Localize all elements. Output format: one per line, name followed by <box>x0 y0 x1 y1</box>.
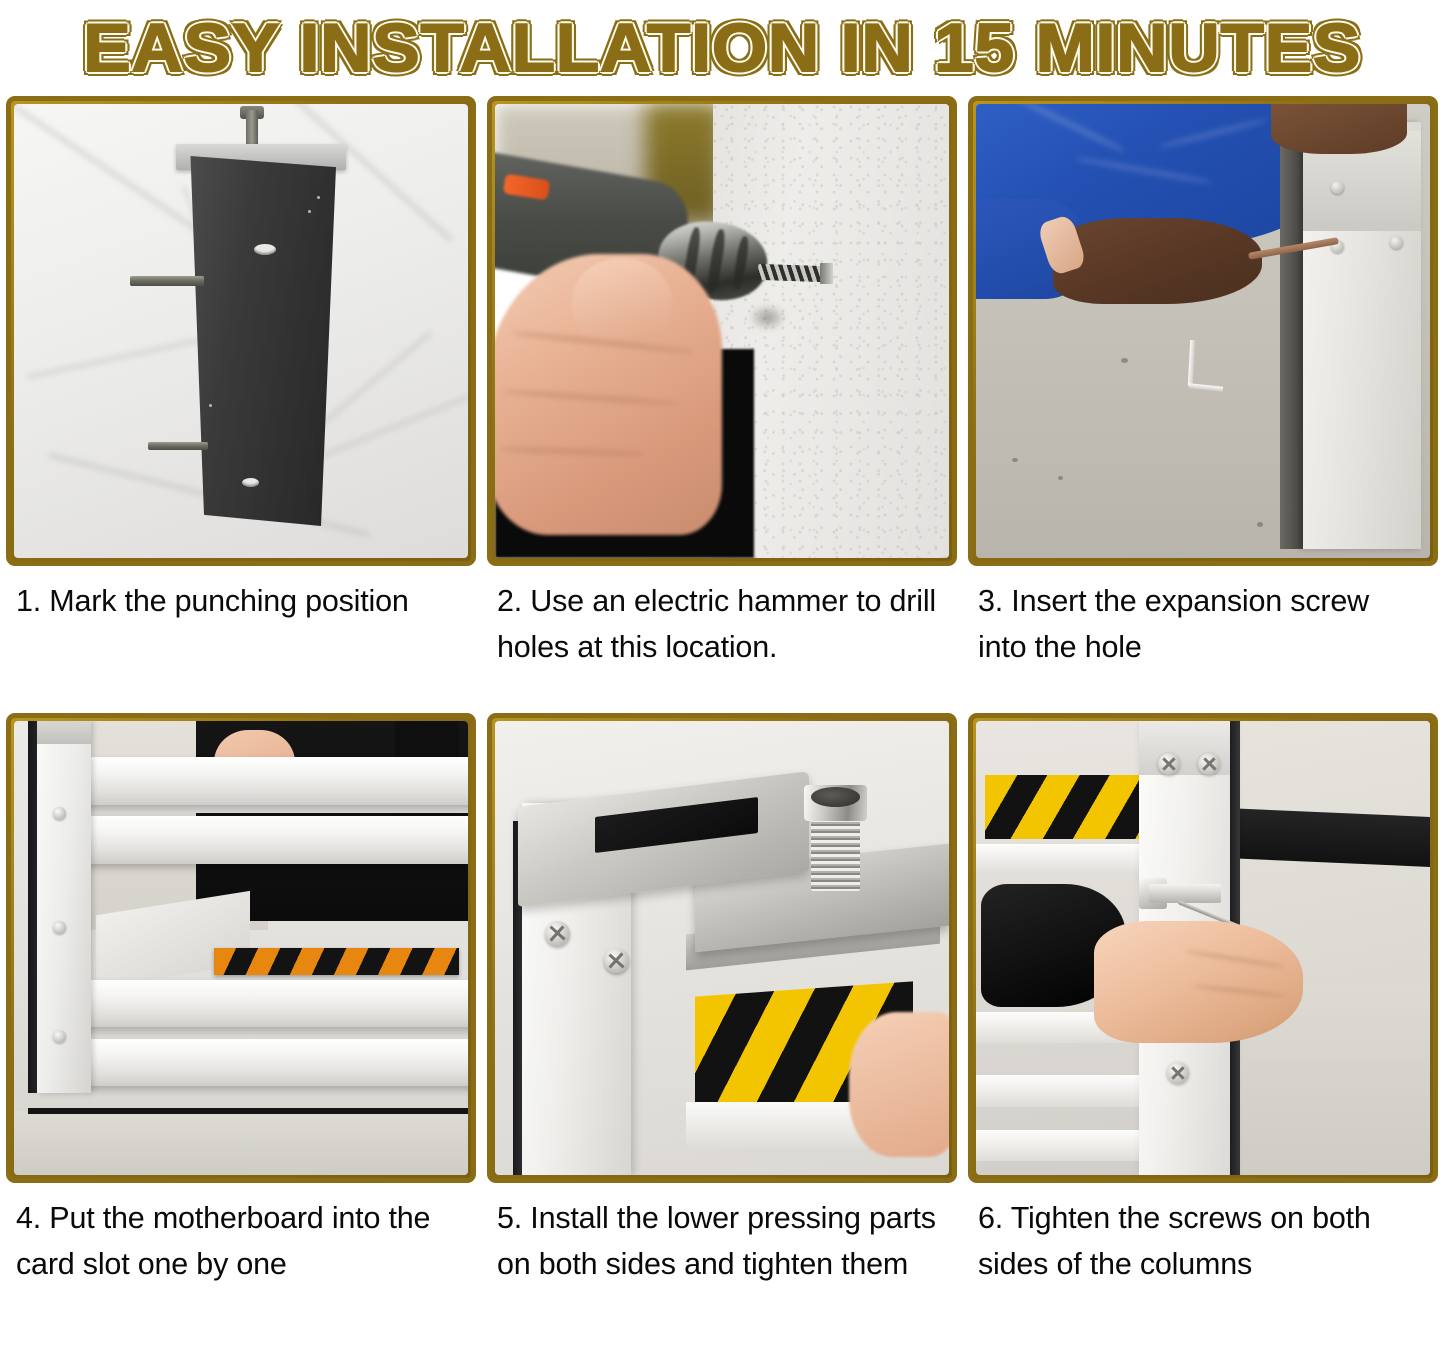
step-caption-3: 3. Insert the expansion screw into the h… <box>968 566 1438 713</box>
drill-bit <box>758 264 822 283</box>
photo-install-pressing-parts <box>495 721 949 1175</box>
step-card-5: 5. Install the lower pressing parts on b… <box>487 713 957 1325</box>
step-card-1: 1. Mark the punching position <box>6 96 476 713</box>
bracket-side-bolt-lower <box>148 442 208 450</box>
bracket-side-bolt-upper <box>130 276 204 286</box>
hand <box>849 1012 949 1157</box>
step-caption-2: 2. Use an electric hammer to drill holes… <box>487 566 957 713</box>
steps-row-top: 1. Mark the punching position 2. Use <box>0 96 1445 713</box>
hazard-stripe <box>985 775 1139 839</box>
barrier-board <box>87 816 468 864</box>
floor-seal-line <box>28 1108 468 1114</box>
phillips-screw <box>604 948 629 973</box>
drill-bit-tip <box>820 263 834 284</box>
wrench-body <box>1149 884 1222 902</box>
photo-frame-5 <box>487 713 957 1183</box>
post-shadow <box>1280 136 1303 549</box>
photo-frame-2 <box>487 96 957 566</box>
photo-frame-3 <box>968 96 1438 566</box>
thumb <box>572 258 672 344</box>
step-caption-5: 5. Install the lower pressing parts on b… <box>487 1183 957 1325</box>
phillips-screw <box>1167 1062 1189 1084</box>
hazard-stripe <box>214 948 459 975</box>
drill-dust <box>749 304 785 331</box>
barrier-board <box>976 1075 1144 1107</box>
worker-arm <box>1053 218 1262 304</box>
photo-drill-holes <box>495 104 949 558</box>
hand <box>1094 921 1303 1044</box>
allen-key-foot <box>1189 384 1223 393</box>
barrier-board <box>976 1130 1144 1162</box>
step-card-3: 3. Insert the expansion screw into the h… <box>968 96 1438 713</box>
step-card-6: 6. Tighten the screws on both sides of t… <box>968 713 1438 1325</box>
barrier-board <box>87 980 468 1028</box>
photo-frame-1 <box>6 96 476 566</box>
bracket-hole-upper <box>254 244 276 255</box>
phillips-screw <box>1158 753 1180 775</box>
step-caption-4: 4. Put the motherboard into the card slo… <box>6 1183 476 1325</box>
bracket-hole-lower <box>242 478 259 487</box>
steps-row-bottom: 4. Put the motherboard into the card slo… <box>0 713 1445 1325</box>
allen-key-shaft <box>1188 340 1195 386</box>
step-caption-6: 6. Tighten the screws on both sides of t… <box>968 1183 1438 1325</box>
photo-frame-6 <box>968 713 1438 1183</box>
worker-upper-hand <box>1271 104 1407 154</box>
post-cap <box>37 721 91 744</box>
phillips-screw <box>545 921 570 946</box>
step-card-4: 4. Put the motherboard into the card slo… <box>6 713 476 1325</box>
title-bar: EASY INSTALLATION IN 15 MINUTES <box>0 0 1445 96</box>
step-caption-1: 1. Mark the punching position <box>6 566 476 713</box>
photo-mark-punching-position <box>14 104 468 558</box>
photo-frame-4 <box>6 713 476 1183</box>
bracket-body <box>186 156 336 526</box>
floor <box>14 1111 468 1175</box>
barrier-board <box>976 844 1144 876</box>
photo-insert-expansion-screw <box>976 104 1430 558</box>
photo-insert-boards-into-slot <box>14 721 468 1175</box>
page-title: EASY INSTALLATION IN 15 MINUTES <box>84 13 1362 83</box>
hex-bolt-thread <box>811 819 861 892</box>
step-card-2: 2. Use an electric hammer to drill holes… <box>487 96 957 713</box>
barrier-board <box>87 757 468 805</box>
photo-tighten-column-screws <box>976 721 1430 1175</box>
barrier-board <box>87 1039 468 1087</box>
